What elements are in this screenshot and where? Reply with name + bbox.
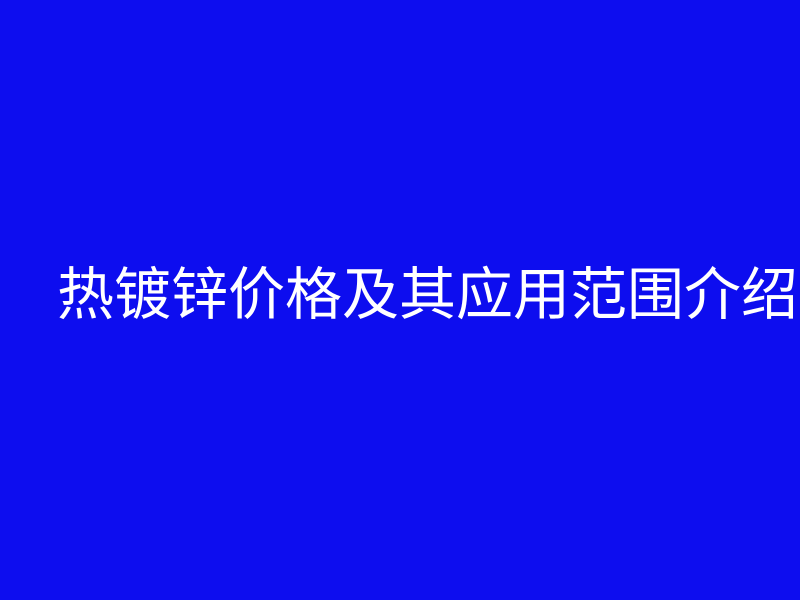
title-slide: 热镀锌价格及其应用范围介绍 xyxy=(0,0,800,600)
title-band: 热镀锌价格及其应用范围介绍 xyxy=(0,246,800,344)
page-title: 热镀锌价格及其应用范围介绍 xyxy=(0,267,798,324)
